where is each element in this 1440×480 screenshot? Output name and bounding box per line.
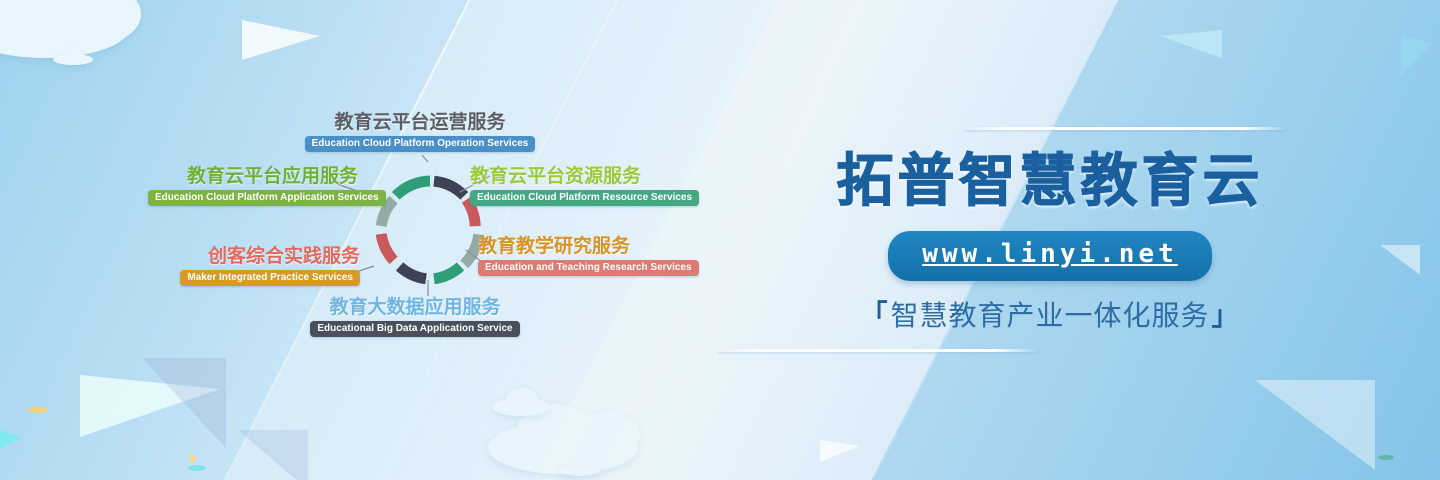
triangle-decor-9 — [820, 440, 860, 462]
label-bigdata: 教育大数据应用服务 Educational Big Data Applicati… — [280, 297, 550, 337]
triangle-decor-3 — [142, 358, 226, 448]
website-url-button[interactable]: www.linyi.net — [888, 231, 1212, 281]
accent-dot-gold — [189, 455, 196, 462]
label-maker-en: Maker Integrated Practice Services — [180, 270, 360, 287]
label-operation-cn: 教育云平台运营服务 — [255, 112, 585, 133]
cloud-small-top-left — [53, 48, 93, 64]
brand-title: 拓普智慧教育云 — [700, 152, 1400, 209]
brand-block: 拓普智慧教育云 www.linyi.net 「 智慧教育产业一体化服务 」 — [700, 100, 1400, 332]
accent-dot-cyan — [188, 465, 206, 471]
triangle-decor-7 — [1401, 34, 1431, 76]
label-application: 教育云平台应用服务 Education Cloud Platform Appli… — [148, 166, 358, 206]
label-operation-en: Education Cloud Platform Operation Servi… — [305, 136, 536, 153]
triangle-decor-6 — [1160, 30, 1222, 58]
label-research: 教育教学研究服务 Education and Teaching Research… — [478, 236, 688, 276]
label-resource-cn: 教育云平台资源服务 — [470, 166, 700, 187]
triangle-decor-5 — [0, 430, 22, 449]
label-resource: 教育云平台资源服务 Education Cloud Platform Resou… — [470, 166, 700, 206]
bracket-open: 「 — [860, 299, 888, 331]
bracket-close: 」 — [1212, 300, 1240, 332]
leader-line-operation — [422, 155, 428, 162]
label-application-en: Education Cloud Platform Application Ser… — [148, 190, 386, 207]
cloud-tiny-bottom — [560, 460, 600, 476]
brand-tagline: 「 智慧教育产业一体化服务 」 — [700, 299, 1400, 333]
label-bigdata-en: Educational Big Data Application Service — [310, 321, 519, 338]
url-row: www.linyi.net — [700, 209, 1400, 281]
label-operation: 教育云平台运营服务 Education Cloud Platform Opera… — [255, 112, 585, 152]
divider-bottom — [718, 349, 1038, 352]
brand-tagline-text: 智慧教育产业一体化服务 — [890, 299, 1209, 333]
cloud-small-bottom-center — [492, 388, 552, 416]
label-resource-en: Education Cloud Platform Resource Servic… — [470, 190, 699, 207]
triangle-decor-1 — [242, 20, 320, 60]
label-maker: 创客综合实践服务 Maker Integrated Practice Servi… — [170, 246, 360, 286]
services-diagram: 教育云平台运营服务 Education Cloud Platform Opera… — [160, 100, 680, 360]
promo-banner: 教育云平台运营服务 Education Cloud Platform Opera… — [0, 0, 1440, 480]
label-bigdata-cn: 教育大数据应用服务 — [280, 297, 550, 318]
label-research-en: Education and Teaching Research Services — [478, 260, 699, 277]
label-maker-cn: 创客综合实践服务 — [170, 246, 360, 267]
label-research-cn: 教育教学研究服务 — [478, 236, 688, 257]
accent-dot-yellow — [28, 407, 48, 413]
cloud-top-left — [0, 0, 240, 76]
label-application-cn: 教育云平台应用服务 — [148, 166, 358, 187]
triangle-decor-8 — [1255, 380, 1375, 470]
triangle-decor-4 — [238, 430, 308, 480]
